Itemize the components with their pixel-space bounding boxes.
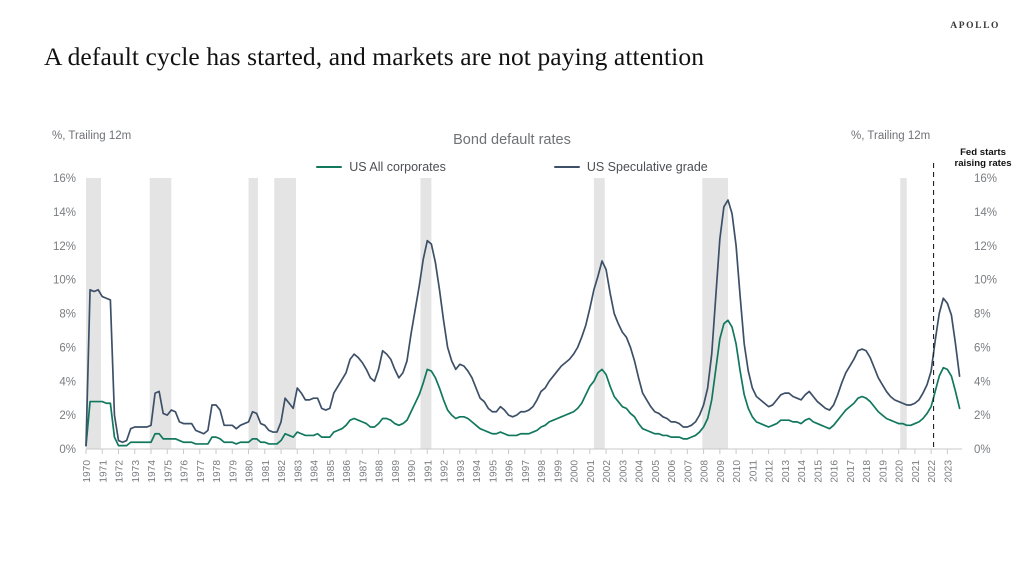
y-axis-tick-label-left: 8% [59,309,76,321]
x-axis-tick-label: 2018 [862,460,873,483]
x-axis-tick-label: 2021 [911,460,922,483]
y-axis-tick-label-right: 16% [974,173,997,185]
x-axis-tick-label: 2000 [570,460,581,483]
x-axis-tick-label: 1972 [115,460,126,483]
x-axis-tick-label: 1999 [553,460,564,483]
recession-band [86,178,101,449]
x-axis-tick-label: 2006 [667,460,678,483]
x-axis-tick-label: 2012 [765,460,776,483]
x-axis-tick-label: 1982 [277,460,288,483]
x-axis-tick-label: 2014 [797,460,808,483]
x-axis-tick-label: 1980 [245,460,256,483]
x-axis-tick-label: 1987 [358,460,369,483]
chart-plot-area: 0%0%2%2%4%4%6%6%8%8%10%10%12%12%14%14%16… [0,0,1024,576]
x-axis-tick-label: 2017 [846,460,857,483]
y-axis-tick-label-right: 12% [974,241,997,253]
x-axis-tick-label: 1976 [180,460,191,483]
series-line-all-corporates [86,320,960,445]
x-axis-tick-label: 1989 [391,460,402,483]
x-axis-tick-label: 1974 [147,460,158,483]
x-axis-tick-label: 1997 [521,460,532,483]
x-axis-tick-label: 1973 [131,460,142,483]
x-axis-tick-label: 1991 [423,460,434,483]
x-axis-tick-label: 2013 [781,460,792,483]
recession-band [594,178,605,449]
y-axis-tick-label-left: 10% [53,275,76,287]
y-axis-tick-label-left: 2% [59,410,76,422]
x-axis-tick-label: 2004 [635,460,646,483]
x-axis-tick-label: 1990 [407,460,418,483]
x-axis-tick-label: 1994 [472,460,483,483]
y-axis-tick-label-right: 0% [974,444,991,456]
x-axis-tick-label: 1983 [293,460,304,483]
y-axis-tick-label-left: 12% [53,241,76,253]
x-axis-tick-label: 1995 [488,460,499,483]
x-axis-tick-label: 1988 [375,460,386,483]
x-axis-tick-label: 1993 [456,460,467,483]
x-axis-tick-label: 2005 [651,460,662,483]
x-axis-tick-label: 2003 [618,460,629,483]
x-axis-tick-label: 2020 [895,460,906,483]
x-axis-tick-label: 1975 [163,460,174,483]
y-axis-tick-label-left: 4% [59,376,76,388]
y-axis-tick-label-right: 4% [974,376,991,388]
x-axis-tick-label: 2009 [716,460,727,483]
x-axis-tick-label: 1978 [212,460,223,483]
x-axis-tick-label: 2007 [683,460,694,483]
x-axis-tick-label: 1981 [261,460,272,483]
recession-band [420,178,431,449]
x-axis-tick-label: 2022 [927,460,938,483]
y-axis-tick-label-right: 8% [974,309,991,321]
x-axis-tick-label: 2002 [602,460,613,483]
x-axis-tick-label: 2001 [586,460,597,483]
x-axis-tick-label: 1998 [537,460,548,483]
y-axis-tick-label-left: 14% [53,207,76,219]
x-axis-tick-label: 2008 [700,460,711,483]
x-axis-tick-label: 2015 [813,460,824,483]
x-axis-tick-label: 2016 [830,460,841,483]
series-line-speculative-grade [86,200,960,446]
recession-band [249,178,258,449]
bond-default-rates-chart: 0%0%2%2%4%4%6%6%8%8%10%10%12%12%14%14%16… [0,0,1024,576]
x-axis-tick-label: 1977 [196,460,207,483]
y-axis-tick-label-right: 10% [974,275,997,287]
y-axis-tick-label-right: 6% [974,342,991,354]
x-axis-tick-label: 1996 [505,460,516,483]
x-axis-tick-label: 1985 [326,460,337,483]
y-axis-tick-label-right: 14% [974,207,997,219]
y-axis-tick-label-left: 16% [53,173,76,185]
x-axis-tick-label: 1992 [440,460,451,483]
y-axis-tick-label-right: 2% [974,410,991,422]
y-axis-tick-label-left: 0% [59,444,76,456]
x-axis-tick-label: 2011 [748,460,759,482]
y-axis-tick-label-left: 6% [59,342,76,354]
x-axis-tick-label: 2019 [878,460,889,483]
x-axis-tick-label: 1979 [228,460,239,483]
x-axis-tick-label: 1971 [98,460,109,483]
recession-band [900,178,907,449]
x-axis-tick-label: 1970 [82,460,93,483]
x-axis-tick-label: 2010 [732,460,743,483]
x-axis-tick-label: 1984 [310,460,321,483]
x-axis-tick-label: 1986 [342,460,353,483]
x-axis-tick-label: 2023 [943,460,954,483]
